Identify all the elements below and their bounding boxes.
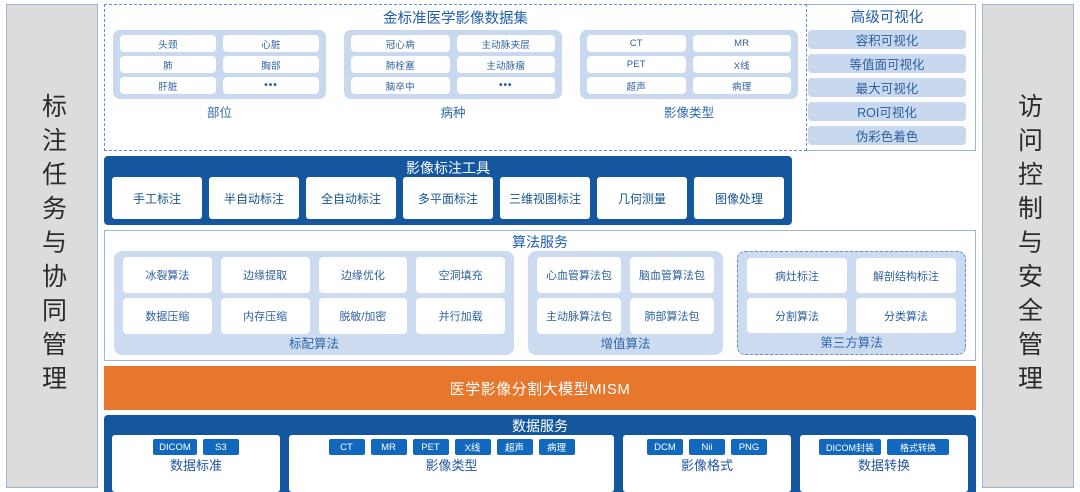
algorithm-chip-grid: 冰裂算法 边缘提取 边缘优化 空洞填充 数据压缩 内存压缩 脱敏/加密 并行加载 bbox=[123, 257, 505, 334]
algorithm-chip[interactable]: 数据压缩 bbox=[123, 298, 212, 334]
dataset-chip[interactable]: 头颈 bbox=[120, 35, 216, 52]
dataset-group-label: 影像类型 bbox=[580, 99, 798, 121]
image-annotation-tools-panel: 影像标注工具 手工标注 半自动标注 全自动标注 多平面标注 三维视图标注 几何测… bbox=[104, 156, 792, 225]
dataset-chip-more[interactable]: ••• bbox=[223, 77, 319, 94]
algorithm-groups: 冰裂算法 边缘提取 边缘优化 空洞填充 数据压缩 内存压缩 脱敏/加密 并行加载… bbox=[114, 251, 966, 355]
visualization-column-spacer bbox=[798, 156, 976, 225]
algorithm-group-label: 增值算法 bbox=[537, 334, 714, 352]
algorithm-chip[interactable]: 脑血管算法包 bbox=[630, 257, 714, 293]
algorithm-service-panel: 算法服务 冰裂算法 边缘提取 边缘优化 空洞填充 数据压缩 内存压缩 脱敏/加密… bbox=[104, 230, 976, 361]
dataset-chip[interactable]: 肺栓塞 bbox=[351, 56, 450, 73]
algorithm-chip[interactable]: 分类算法 bbox=[856, 298, 956, 333]
tool-multiplanar-annotation[interactable]: 多平面标注 bbox=[403, 177, 493, 219]
row-dataset: 金标准医学影像数据集 头颈 心脏 肺 胸部 肝脏 ••• 部位 bbox=[104, 4, 976, 151]
data-service-title: 数据服务 bbox=[112, 417, 968, 435]
data-service-group-label: 数据转换 bbox=[858, 455, 910, 474]
algorithm-group-label: 标配算法 bbox=[123, 334, 505, 352]
algorithm-chip-grid: 病灶标注 解剖结构标注 分割算法 分类算法 bbox=[747, 258, 956, 333]
tool-manual-annotation[interactable]: 手工标注 bbox=[112, 177, 202, 219]
algorithm-chip[interactable]: 肺部算法包 bbox=[630, 298, 714, 334]
dataset-chip[interactable]: PET bbox=[587, 56, 686, 73]
algorithm-chip[interactable]: 分割算法 bbox=[747, 298, 847, 333]
data-service-groups: DICOM S3 数据标准 CT MR PET X线 超声 病理 bbox=[112, 435, 968, 492]
data-service-tag-row: CT MR PET X线 超声 病理 bbox=[296, 439, 607, 455]
data-service-tag[interactable]: X线 bbox=[455, 439, 491, 455]
visualization-column: 高级可视化 容积可视化 等值面可视化 最大可视化 ROI可视化 伪彩色着色 bbox=[798, 4, 976, 151]
dataset-chip[interactable]: MR bbox=[693, 35, 792, 52]
data-service-group-label: 影像类型 bbox=[425, 455, 477, 474]
dataset-chip[interactable]: 超声 bbox=[587, 77, 686, 94]
dataset-chip-grid: 冠心病 主动脉夹层 肺栓塞 主动脉瘤 脑卒中 ••• bbox=[344, 30, 562, 99]
dataset-chip-more[interactable]: ••• bbox=[457, 77, 556, 94]
dataset-chip[interactable]: 肺 bbox=[120, 56, 216, 73]
visualization-item-volume[interactable]: 容积可视化 bbox=[808, 30, 966, 49]
dataset-chip[interactable]: CT bbox=[587, 35, 686, 52]
dataset-group-image-type: CT MR PET X线 超声 病理 影像类型 bbox=[580, 30, 798, 146]
data-service-tag[interactable]: PET bbox=[413, 439, 449, 455]
right-pillar-label: 访问控制与安全管理 bbox=[1016, 93, 1041, 399]
data-service-tag[interactable]: 格式转换 bbox=[887, 439, 949, 455]
data-service-tag[interactable]: S3 bbox=[203, 439, 239, 455]
visualization-title: 高级可视化 bbox=[808, 9, 966, 28]
algorithm-chip-grid: 心血管算法包 脑血管算法包 主动脉算法包 肺部算法包 bbox=[537, 257, 714, 334]
dataset-groups: 头颈 心脏 肺 胸部 肝脏 ••• 部位 冠心病 bbox=[113, 30, 798, 146]
algorithm-chip[interactable]: 主动脉算法包 bbox=[537, 298, 621, 334]
gold-standard-dataset-panel: 金标准医学影像数据集 头颈 心脏 肺 胸部 肝脏 ••• 部位 bbox=[104, 4, 807, 151]
center-column: 金标准医学影像数据集 头颈 心脏 肺 胸部 肝脏 ••• 部位 bbox=[104, 4, 976, 488]
data-service-group-label: 数据标准 bbox=[170, 455, 222, 474]
algorithm-chip[interactable]: 脱敏/加密 bbox=[319, 298, 408, 334]
advanced-visualization-panel: 高级可视化 容积可视化 等值面可视化 最大可视化 ROI可视化 伪彩色着色 bbox=[798, 4, 976, 151]
algorithm-chip[interactable]: 冰裂算法 bbox=[123, 257, 212, 293]
algorithm-chip[interactable]: 并行加载 bbox=[416, 298, 505, 334]
tool-3d-view-annotation[interactable]: 三维视图标注 bbox=[500, 177, 590, 219]
right-pillar-access-control-security[interactable]: 访问控制与安全管理 bbox=[982, 4, 1074, 488]
dataset-chip[interactable]: 冠心病 bbox=[351, 35, 450, 52]
left-pillar-label: 标注任务与协同管理 bbox=[40, 93, 65, 399]
dataset-group-body-part: 头颈 心脏 肺 胸部 肝脏 ••• 部位 bbox=[113, 30, 326, 146]
dataset-chip[interactable]: 肝脏 bbox=[120, 77, 216, 94]
visualization-item-maximum[interactable]: 最大可视化 bbox=[808, 78, 966, 97]
tool-auto-annotation[interactable]: 全自动标注 bbox=[306, 177, 396, 219]
algorithm-group-value-added: 心血管算法包 脑血管算法包 主动脉算法包 肺部算法包 增值算法 bbox=[528, 251, 723, 355]
left-pillar-annotation-task-management[interactable]: 标注任务与协同管理 bbox=[6, 4, 98, 488]
data-service-panel: 数据服务 DICOM S3 数据标准 CT MR PET bbox=[104, 415, 976, 492]
row-annotation-tools: 影像标注工具 手工标注 半自动标注 全自动标注 多平面标注 三维视图标注 几何测… bbox=[104, 156, 976, 225]
algorithm-service-title: 算法服务 bbox=[114, 234, 966, 251]
data-service-tag[interactable]: DICOM bbox=[153, 439, 197, 455]
visualization-item-pseudocolor[interactable]: 伪彩色着色 bbox=[808, 126, 966, 145]
data-service-group-conversion: DICOM封装 格式转换 数据转换 bbox=[800, 435, 968, 492]
annotation-tools-row: 手工标注 半自动标注 全自动标注 多平面标注 三维视图标注 几何测量 图像处理 bbox=[112, 177, 784, 219]
mism-band[interactable]: 医学影像分割大模型MISM bbox=[104, 366, 976, 410]
algorithm-chip[interactable]: 解剖结构标注 bbox=[856, 258, 956, 293]
annotation-tools-title: 影像标注工具 bbox=[112, 159, 784, 177]
data-service-tag-row: DICOM封装 格式转换 bbox=[807, 439, 961, 455]
algorithm-chip[interactable]: 病灶标注 bbox=[747, 258, 847, 293]
data-service-tag-row: DICOM S3 bbox=[119, 439, 273, 455]
algorithm-chip[interactable]: 心血管算法包 bbox=[537, 257, 621, 293]
annotation-tools-column: 影像标注工具 手工标注 半自动标注 全自动标注 多平面标注 三维视图标注 几何测… bbox=[104, 156, 792, 225]
algorithm-chip[interactable]: 内存压缩 bbox=[221, 298, 310, 334]
algorithm-group-third-party: 病灶标注 解剖结构标注 分割算法 分类算法 第三方算法 bbox=[737, 251, 966, 355]
data-service-tag[interactable]: DICOM封装 bbox=[819, 439, 881, 455]
dataset-chip-grid: 头颈 心脏 肺 胸部 肝脏 ••• bbox=[113, 30, 326, 99]
tool-image-processing[interactable]: 图像处理 bbox=[694, 177, 784, 219]
visualization-item-isosurface[interactable]: 等值面可视化 bbox=[808, 54, 966, 73]
dataset-chip-grid: CT MR PET X线 超声 病理 bbox=[580, 30, 798, 99]
data-service-group-standards: DICOM S3 数据标准 bbox=[112, 435, 280, 492]
dataset-chip[interactable]: 主动脉瘤 bbox=[457, 56, 556, 73]
algorithm-chip[interactable]: 边缘提取 bbox=[221, 257, 310, 293]
data-service-tag[interactable]: PNG bbox=[731, 439, 767, 455]
data-service-tag[interactable]: 超声 bbox=[497, 439, 533, 455]
data-service-group-label: 影像格式 bbox=[681, 455, 733, 474]
dataset-chip[interactable]: X线 bbox=[693, 56, 792, 73]
row-mism: 医学影像分割大模型MISM bbox=[104, 366, 976, 410]
dataset-title: 金标准医学影像数据集 bbox=[113, 10, 798, 28]
dataset-group-label: 病种 bbox=[344, 99, 562, 121]
data-service-tag[interactable]: 病理 bbox=[539, 439, 575, 455]
data-service-tag[interactable]: CT bbox=[329, 439, 365, 455]
dataset-chip[interactable]: 心脏 bbox=[223, 35, 319, 52]
mism-label: 医学影像分割大模型MISM bbox=[450, 378, 631, 399]
algorithm-group-label: 第三方算法 bbox=[747, 333, 956, 351]
dataset-chip[interactable]: 胸部 bbox=[223, 56, 319, 73]
row-data-service: 数据服务 DICOM S3 数据标准 CT MR PET bbox=[104, 415, 976, 492]
algorithm-chip[interactable]: 边缘优化 bbox=[319, 257, 408, 293]
dataset-chip[interactable]: 脑卒中 bbox=[351, 77, 450, 94]
visualization-list: 容积可视化 等值面可视化 最大可视化 ROI可视化 伪彩色着色 bbox=[808, 30, 966, 145]
architecture-diagram: 标注任务与协同管理 金标准医学影像数据集 头颈 心脏 肺 胸部 肝 bbox=[0, 0, 1080, 492]
data-service-tag[interactable]: DCM bbox=[647, 439, 683, 455]
row-algorithm-service: 算法服务 冰裂算法 边缘提取 边缘优化 空洞填充 数据压缩 内存压缩 脱敏/加密… bbox=[104, 230, 976, 361]
data-service-group-image-type: CT MR PET X线 超声 病理 影像类型 bbox=[289, 435, 614, 492]
dataset-chip[interactable]: 病理 bbox=[693, 77, 792, 94]
dataset-group-disease: 冠心病 主动脉夹层 肺栓塞 主动脉瘤 脑卒中 ••• 病种 bbox=[344, 30, 562, 146]
dataset-column: 金标准医学影像数据集 头颈 心脏 肺 胸部 肝脏 ••• 部位 bbox=[104, 4, 792, 151]
tool-geometric-measurement[interactable]: 几何测量 bbox=[597, 177, 687, 219]
visualization-item-roi[interactable]: ROI可视化 bbox=[808, 102, 966, 121]
algorithm-chip[interactable]: 空洞填充 bbox=[416, 257, 505, 293]
data-service-tag[interactable]: Nii bbox=[689, 439, 725, 455]
data-service-group-format: DCM Nii PNG 影像格式 bbox=[623, 435, 791, 492]
tool-semiauto-annotation[interactable]: 半自动标注 bbox=[209, 177, 299, 219]
data-service-tag-row: DCM Nii PNG bbox=[630, 439, 784, 455]
data-service-tag[interactable]: MR bbox=[371, 439, 407, 455]
algorithm-group-standard: 冰裂算法 边缘提取 边缘优化 空洞填充 数据压缩 内存压缩 脱敏/加密 并行加载… bbox=[114, 251, 514, 355]
dataset-group-label: 部位 bbox=[113, 99, 326, 121]
dataset-chip[interactable]: 主动脉夹层 bbox=[457, 35, 556, 52]
